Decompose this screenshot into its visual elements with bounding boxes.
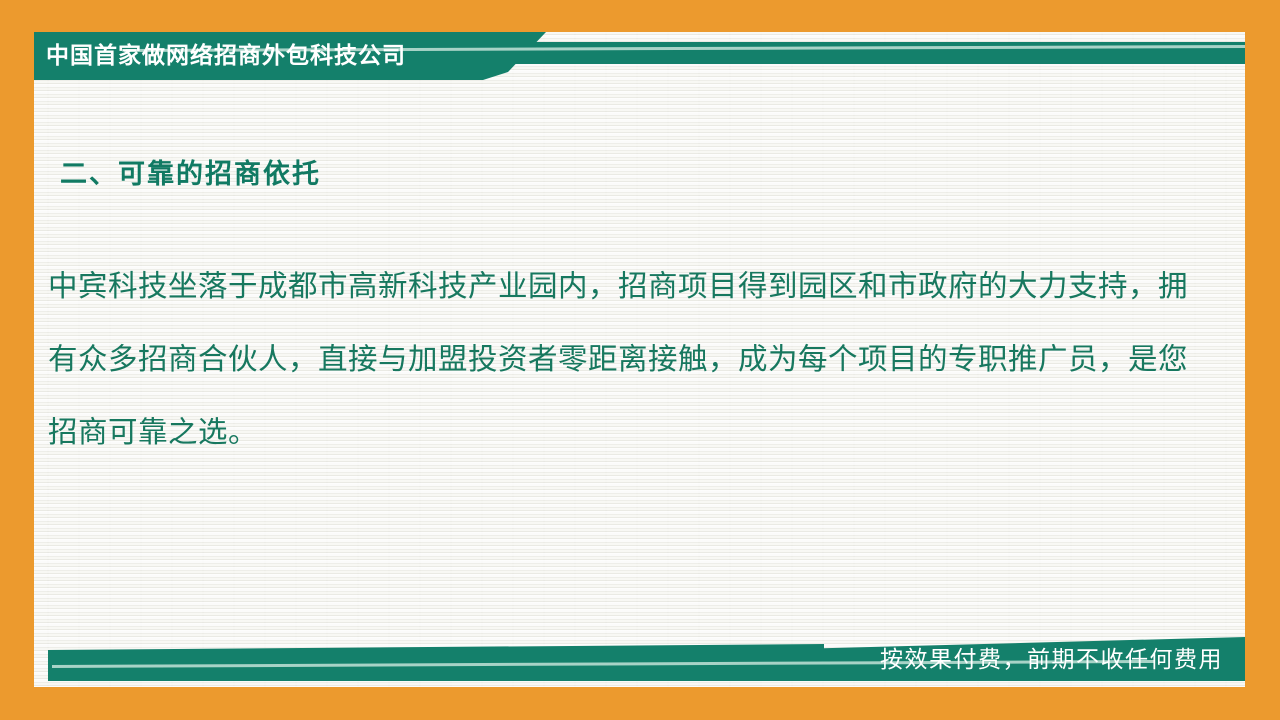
section-heading: 二、可靠的招商依托 (60, 152, 321, 191)
header-left-block (34, 32, 546, 72)
header-band: 中国首家做网络招商外包科技公司 (34, 32, 1245, 84)
slide-canvas: 中国首家做网络招商外包科技公司 二、可靠的招商依托 中宾科技坐落于成都市高新科技… (0, 0, 1280, 720)
slide-content: 二、可靠的招商依托 中宾科技坐落于成都市高新科技产业园内，招商项目得到园区和市政… (34, 84, 1245, 631)
header-hairline (124, 45, 1245, 52)
footer-band: 按效果付费，前期不收任何费用 (34, 631, 1245, 687)
slide-paper-background: 中国首家做网络招商外包科技公司 二、可靠的招商依托 中宾科技坐落于成都市高新科技… (34, 32, 1245, 687)
header-right-strip-taper (1220, 42, 1245, 64)
footer-left-strip (48, 644, 824, 681)
body-paragraph: 中宾科技坐落于成都市高新科技产业园内，招商项目得到园区和市政府的大力支持，拥有众… (48, 250, 1188, 469)
footer-tagline: 按效果付费，前期不收任何费用 (880, 644, 1223, 676)
header-right-strip (483, 42, 1245, 64)
header-bottom-bevel (34, 72, 508, 80)
header-title: 中国首家做网络招商外包科技公司 (46, 36, 526, 76)
footer-right-block (794, 637, 1245, 681)
footer-hairline (52, 660, 1154, 668)
footer-left-taper (48, 650, 64, 681)
